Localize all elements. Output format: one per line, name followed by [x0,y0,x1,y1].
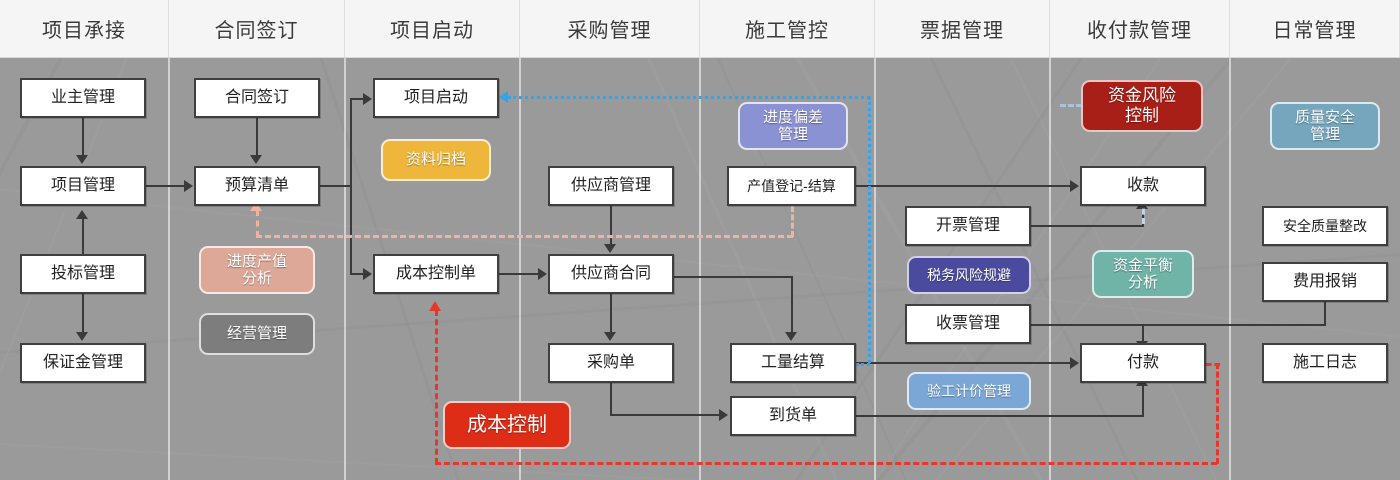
workflow-diagram: 项目承接合同签订项目启动采购管理施工管控票据管理收付款管理日常管理 [0,0,1400,480]
phase-header-row: 项目承接合同签订项目启动采购管理施工管控票据管理收付款管理日常管理 [0,0,1400,58]
node-gysgl[interactable]: 供应商管理 [548,166,674,206]
lane-divider-1 [168,58,170,480]
node-baozheng[interactable]: 保证金管理 [20,343,146,383]
node-jdpc[interactable]: 进度偏差管理 [738,102,848,150]
lane-divider-2 [344,58,346,480]
node-kpgl[interactable]: 开票管理 [905,206,1031,246]
node-dhd[interactable]: 到货单 [730,396,856,436]
lane-divider-4 [699,58,701,480]
dotted-blue-vertical [868,97,871,363]
node-jingying[interactable]: 经营管理 [199,313,315,355]
phase-header-8: 日常管理 [1230,0,1400,57]
phase-header-1: 项目承接 [0,0,169,57]
node-zlaq[interactable]: 质量安全管理 [1270,102,1380,150]
diagram-canvas: 业主管理项目管理投标管理保证金管理合同签订预算清单进度产值分析经营管理项目启动资… [0,58,1400,480]
phase-header-4: 采购管理 [520,0,700,57]
node-ziliao[interactable]: 资料归档 [381,139,491,181]
phase-header-6: 票据管理 [875,0,1050,57]
dotted-blue-horizontal [508,96,870,99]
node-shoukuan[interactable]: 收款 [1080,166,1206,206]
phase-header-2: 合同签订 [169,0,345,57]
node-hetong[interactable]: 合同签订 [194,78,320,118]
node-spgl[interactable]: 收票管理 [905,304,1031,344]
node-yusuan[interactable]: 预算清单 [194,166,320,206]
node-gljs[interactable]: 工量结算 [730,343,856,383]
node-gysht[interactable]: 供应商合同 [548,254,674,294]
node-yezhu[interactable]: 业主管理 [20,78,146,118]
phase-header-7: 收付款管理 [1050,0,1230,57]
node-caigou[interactable]: 采购单 [548,343,674,383]
node-sgrz[interactable]: 施工日志 [1262,343,1388,383]
node-ygjj[interactable]: 验工计价管理 [907,372,1031,410]
node-xiangmu[interactable]: 项目管理 [20,166,146,206]
node-zjfx[interactable]: 资金风险控制 [1081,80,1203,132]
node-aqzl[interactable]: 安全质量整改 [1262,206,1388,246]
lane-divider-7 [1229,58,1231,480]
dashed-salmon-horizontal [256,235,793,238]
node-fybx[interactable]: 费用报销 [1262,262,1388,302]
node-toubiao[interactable]: 投标管理 [20,254,146,294]
phase-header-5: 施工管控 [700,0,875,57]
node-qidong[interactable]: 项目启动 [373,78,499,118]
node-chengben2[interactable]: 成本控制 [443,401,571,449]
node-chengben1[interactable]: 成本控制单 [373,254,499,294]
node-zjph[interactable]: 资金平衡分析 [1092,250,1194,298]
node-swfx[interactable]: 税务风险规避 [907,256,1031,294]
dashed-red-right [1216,363,1219,464]
dashed-lightblue-horizontal [1060,104,1082,107]
node-czdj[interactable]: 产值登记-结算 [727,166,856,206]
dashed-red-left [435,310,438,464]
node-fukuan[interactable]: 付款 [1080,343,1206,383]
dashed-red-bottom [435,462,1217,465]
node-jindu[interactable]: 进度产值分析 [199,246,315,294]
phase-header-3: 项目启动 [345,0,520,57]
